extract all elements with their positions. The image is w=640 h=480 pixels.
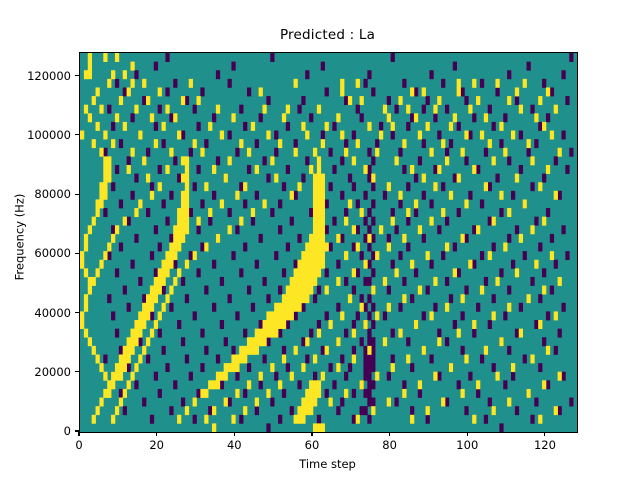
y-tick-label: 120000: [0, 69, 71, 83]
x-axis-label: Time step: [79, 457, 576, 471]
x-tick-label: 120: [534, 438, 556, 452]
y-tick-label: 100000: [0, 128, 71, 142]
x-tick-mark: [156, 432, 157, 436]
x-tick-label: 40: [227, 438, 242, 452]
y-tick-mark: [75, 312, 79, 313]
y-tick-mark: [75, 194, 79, 195]
x-tick-label: 0: [75, 438, 82, 452]
heatmap-axes: [79, 52, 578, 433]
x-tick-mark: [78, 432, 79, 436]
y-tick-label: 60000: [0, 246, 71, 260]
y-tick-label: 80000: [0, 187, 71, 201]
x-tick-mark: [544, 432, 545, 436]
x-tick-label: 20: [149, 438, 164, 452]
y-tick-label: 40000: [0, 306, 71, 320]
y-tick-mark: [75, 75, 79, 76]
page-title: Predicted : La: [79, 27, 576, 43]
y-tick-mark: [75, 371, 79, 372]
heatmap-canvas: [80, 53, 577, 432]
x-tick-label: 80: [382, 438, 397, 452]
x-tick-mark: [311, 432, 312, 436]
y-tick-label: 20000: [0, 365, 71, 379]
matplotlib-figure: Predicted : La 0200004000060000800001000…: [0, 0, 640, 480]
y-tick-mark: [75, 253, 79, 254]
x-tick-mark: [389, 432, 390, 436]
x-tick-mark: [234, 432, 235, 436]
y-axis-label: Frequency (Hz): [12, 47, 26, 426]
y-tick-label: 0: [0, 424, 71, 438]
x-tick-label: 100: [456, 438, 478, 452]
x-tick-label: 60: [305, 438, 320, 452]
y-tick-mark: [75, 134, 79, 135]
x-tick-mark: [467, 432, 468, 436]
